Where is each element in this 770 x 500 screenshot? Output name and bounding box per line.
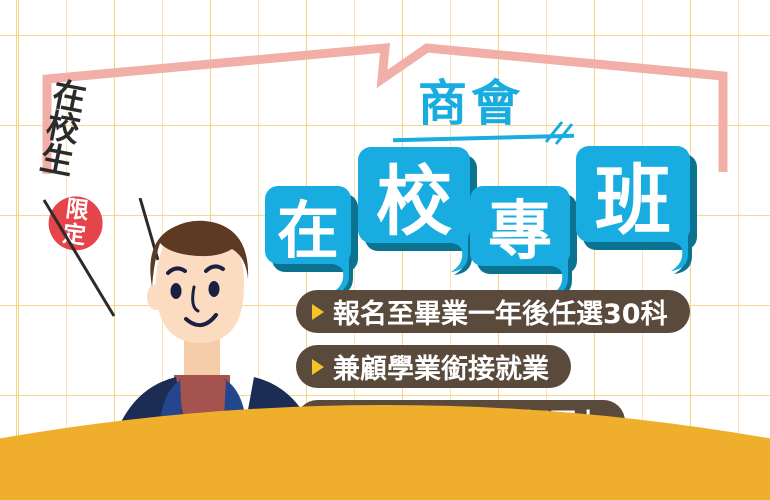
bullet-label: 兼顧學業銜接就業 bbox=[333, 347, 549, 386]
bullet-item-1: 報名至畢業一年後任選30科 bbox=[296, 290, 690, 333]
bullet-label: 報名至畢業一年後任選30科 bbox=[333, 292, 668, 331]
title-box-char: 專 bbox=[488, 180, 552, 272]
title-box-3: 專 bbox=[470, 186, 570, 266]
title-box-4: 班 bbox=[576, 146, 690, 242]
play-triangle-icon bbox=[312, 304, 324, 320]
title-box-char: 校 bbox=[376, 140, 452, 250]
poster-root: 在 校 生 限 定 商會 在校專班 bbox=[0, 0, 770, 500]
title-box-2: 校 bbox=[358, 147, 470, 243]
play-triangle-icon bbox=[312, 359, 324, 375]
bottom-yellow-banner bbox=[0, 390, 770, 500]
bullet-item-2: 兼顧學業銜接就業 bbox=[296, 345, 571, 388]
title-box-char: 班 bbox=[595, 139, 671, 249]
